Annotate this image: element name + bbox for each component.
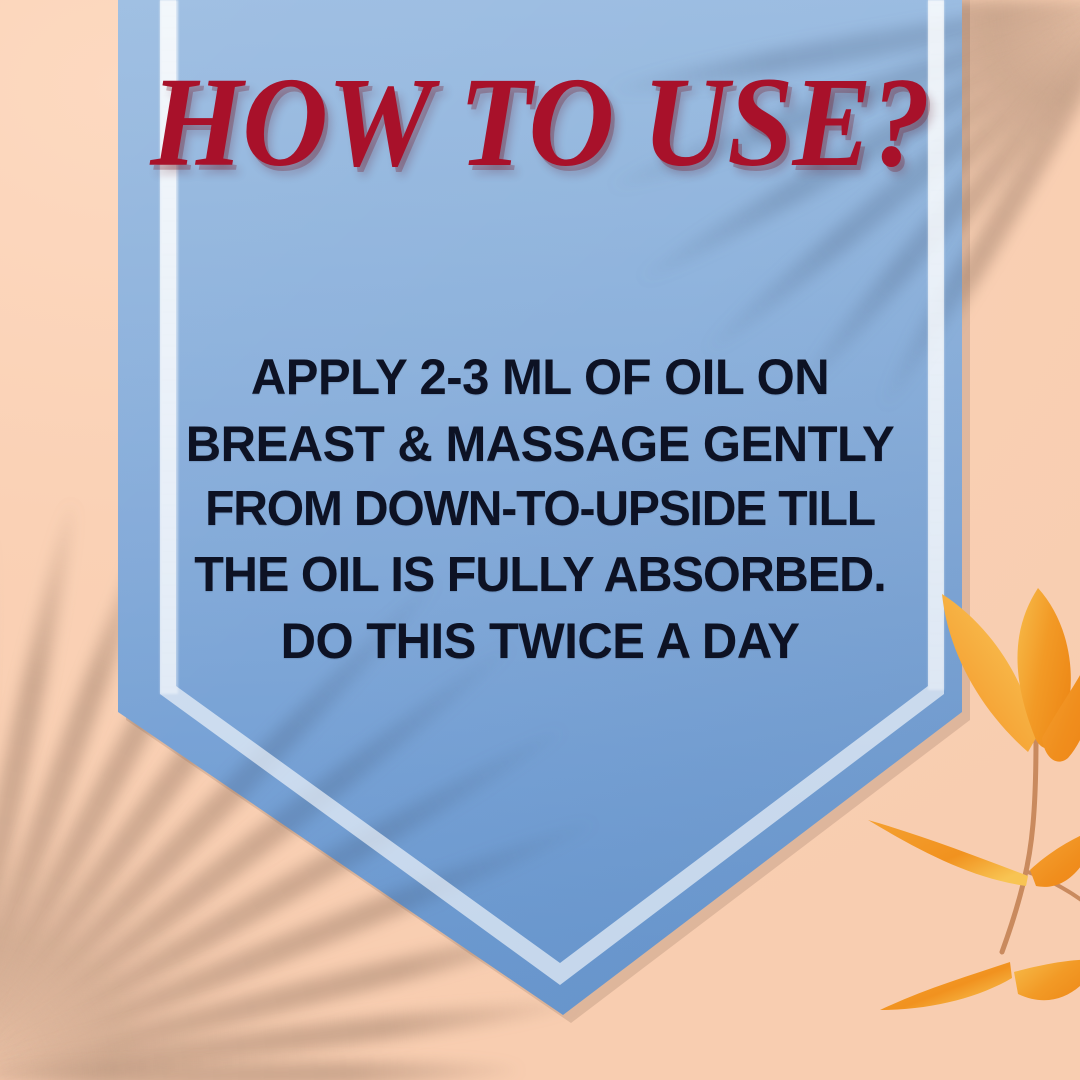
leaf-lower-right	[1014, 960, 1080, 1001]
instructions-text: APPLY 2-3 ML OF OIL ON BREAST & MASSAGE …	[158, 344, 922, 674]
leaf-lower-left	[880, 962, 1012, 1010]
orange-leaf-branch	[860, 580, 1080, 1080]
page-title: HOW TO USE?	[148, 58, 933, 186]
poster-canvas: HOW TO USE? APPLY 2-3 ML OF OIL ON BREAS…	[0, 0, 1080, 1080]
leaf-mid-left	[868, 820, 1028, 886]
instruction-line-1: APPLY 2-3 ML OF OIL ON	[158, 344, 922, 411]
leaf-mid-right	[1030, 826, 1080, 887]
instruction-line-2: BREAST & MASSAGE GENTLY	[158, 411, 922, 478]
instruction-line-4: THE OIL IS FULLY ABSORBED.	[158, 542, 922, 608]
leaf-stem-main	[1002, 740, 1036, 952]
instruction-line-3: FROM DOWN-TO-UPSIDE TILL	[158, 477, 922, 542]
instruction-line-5: DO THIS TWICE A DAY	[158, 608, 922, 675]
